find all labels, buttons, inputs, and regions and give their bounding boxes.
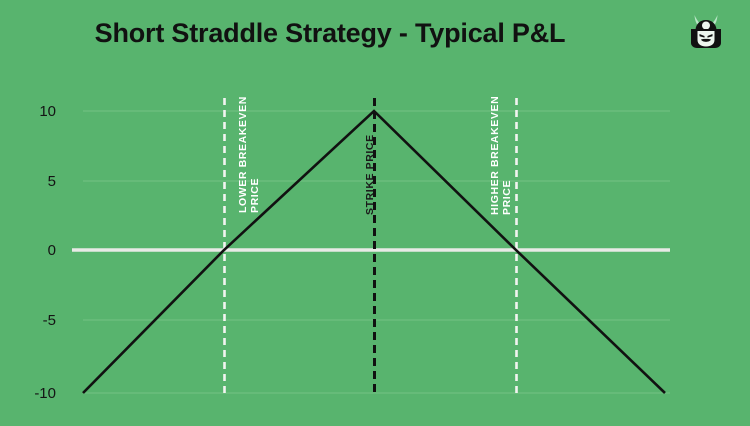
gridlines <box>83 111 670 393</box>
lower-breakeven-label: LOWER BREAKEVEN PRICE <box>237 96 261 213</box>
strike-price-label-line1: STRIKE PRICE <box>364 134 376 215</box>
ytick-label-minus-5: -5 <box>8 313 56 328</box>
ytick-label-5: 5 <box>8 174 56 189</box>
plot-area: 10 5 0 -5 -10 LOWER BREAKEVEN PRICE STRI… <box>0 0 750 426</box>
higher-breakeven-label-line2: PRICE <box>501 96 513 215</box>
higher-breakeven-label: HIGHER BREAKEVEN PRICE <box>489 96 513 215</box>
strike-price-label: STRIKE PRICE <box>364 134 376 215</box>
ytick-label-10: 10 <box>8 104 56 119</box>
chart-screenshot: Short Straddle Strategy - Typical P&L <box>0 0 750 426</box>
higher-breakeven-label-line1: HIGHER BREAKEVEN <box>489 96 501 215</box>
lower-breakeven-label-line1: LOWER BREAKEVEN <box>237 96 249 213</box>
ytick-label-minus-10: -10 <box>8 386 56 401</box>
lower-breakeven-label-line2: PRICE <box>249 96 261 213</box>
ytick-label-0: 0 <box>8 243 56 258</box>
